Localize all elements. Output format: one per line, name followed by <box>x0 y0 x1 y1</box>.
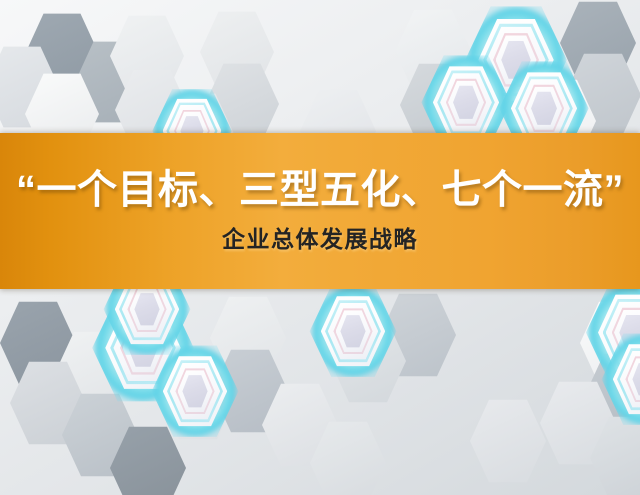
glow-hex-bot-left-2 <box>160 352 230 430</box>
glow-hex-bot-right-1 <box>318 292 388 370</box>
title-banner: “一个目标、三型五化、七个一流” 企业总体发展战略 <box>0 133 640 289</box>
glow-hex-top-right-2 <box>430 62 502 143</box>
glow-hex-bot-right-3 <box>610 340 640 418</box>
slide-subtitle: 企业总体发展战略 <box>222 227 418 252</box>
slide-title: “一个目标、三型五化、七个一流” <box>16 169 624 211</box>
hex-bot-light-9 <box>470 398 546 484</box>
presentation-slide: “一个目标、三型五化、七个一流” 企业总体发展战略 <box>0 0 640 495</box>
